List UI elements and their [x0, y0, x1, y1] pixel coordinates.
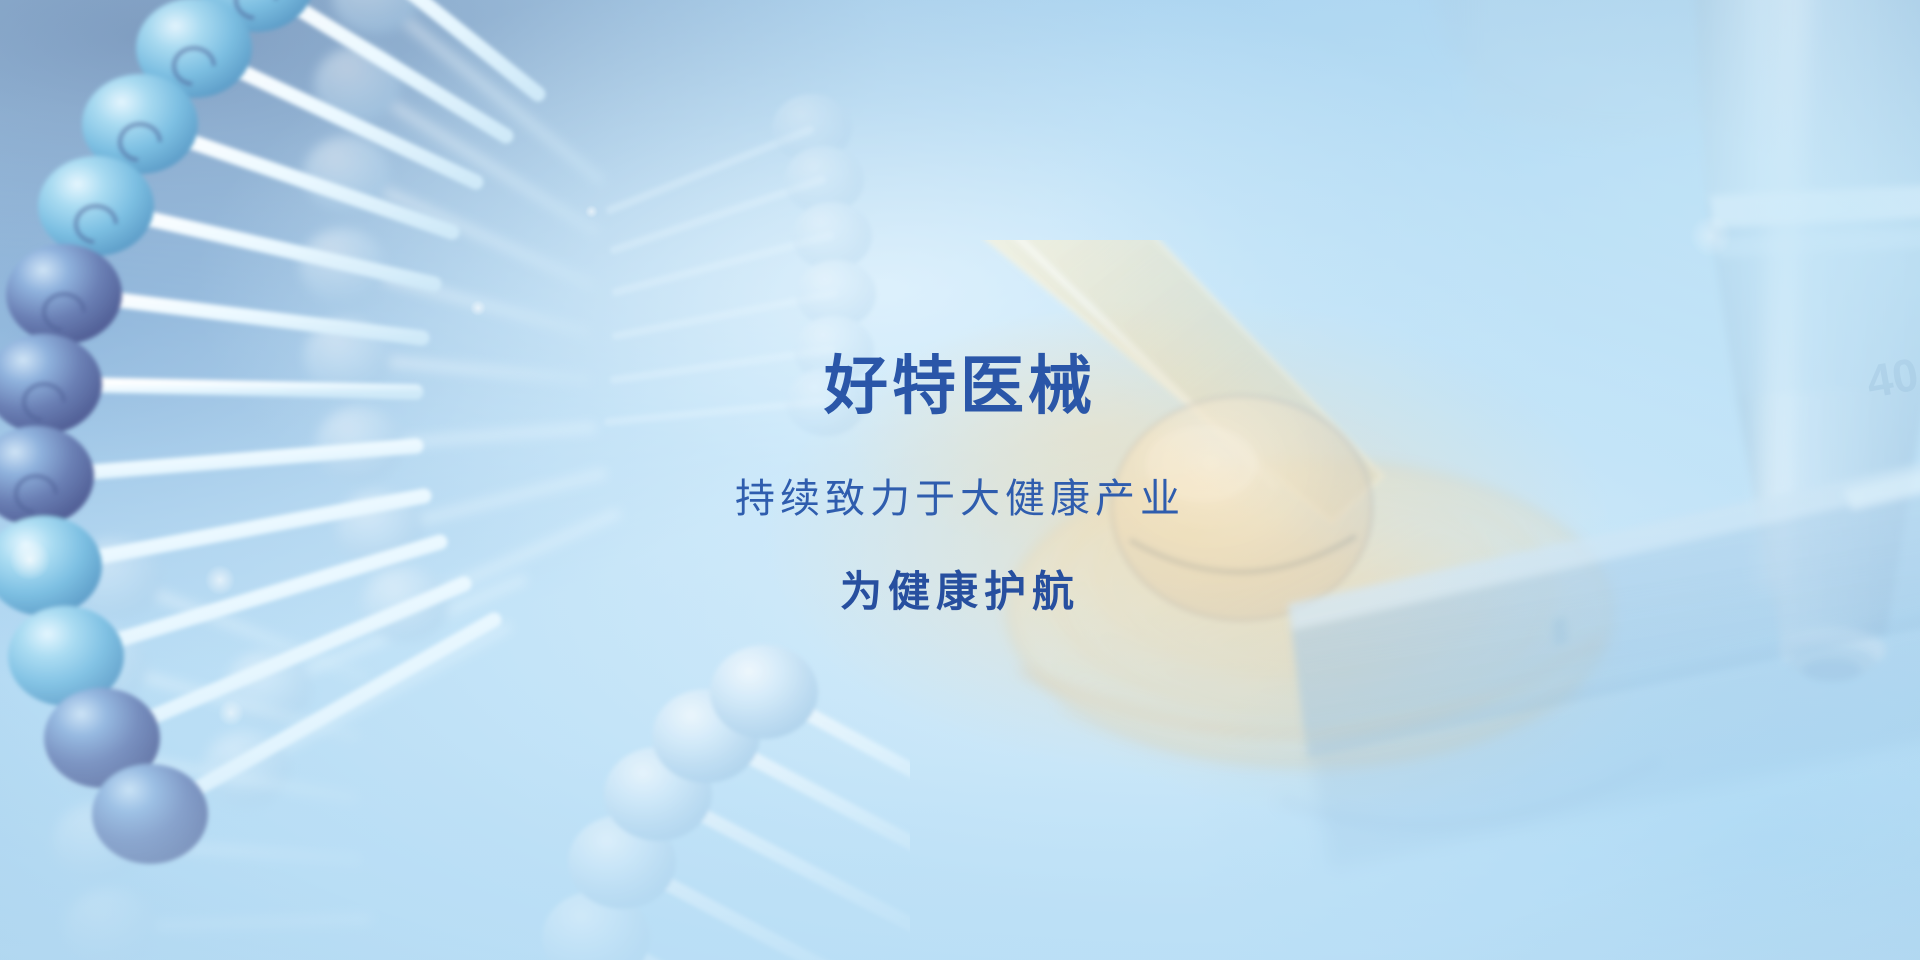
hero-text-block: 好特医械 持续致力于大健康产业 为健康护航	[0, 352, 1920, 615]
page-title: 好特医械	[0, 352, 1920, 421]
hero-banner: 40	[0, 0, 1920, 960]
bokeh-dot	[470, 300, 486, 316]
bokeh-dot	[218, 700, 244, 726]
bokeh-dot	[585, 205, 598, 218]
hero-subtitle: 持续致力于大健康产业	[0, 477, 1920, 521]
hero-slogan: 为健康护航	[0, 569, 1920, 615]
bokeh-dot	[1690, 215, 1732, 257]
